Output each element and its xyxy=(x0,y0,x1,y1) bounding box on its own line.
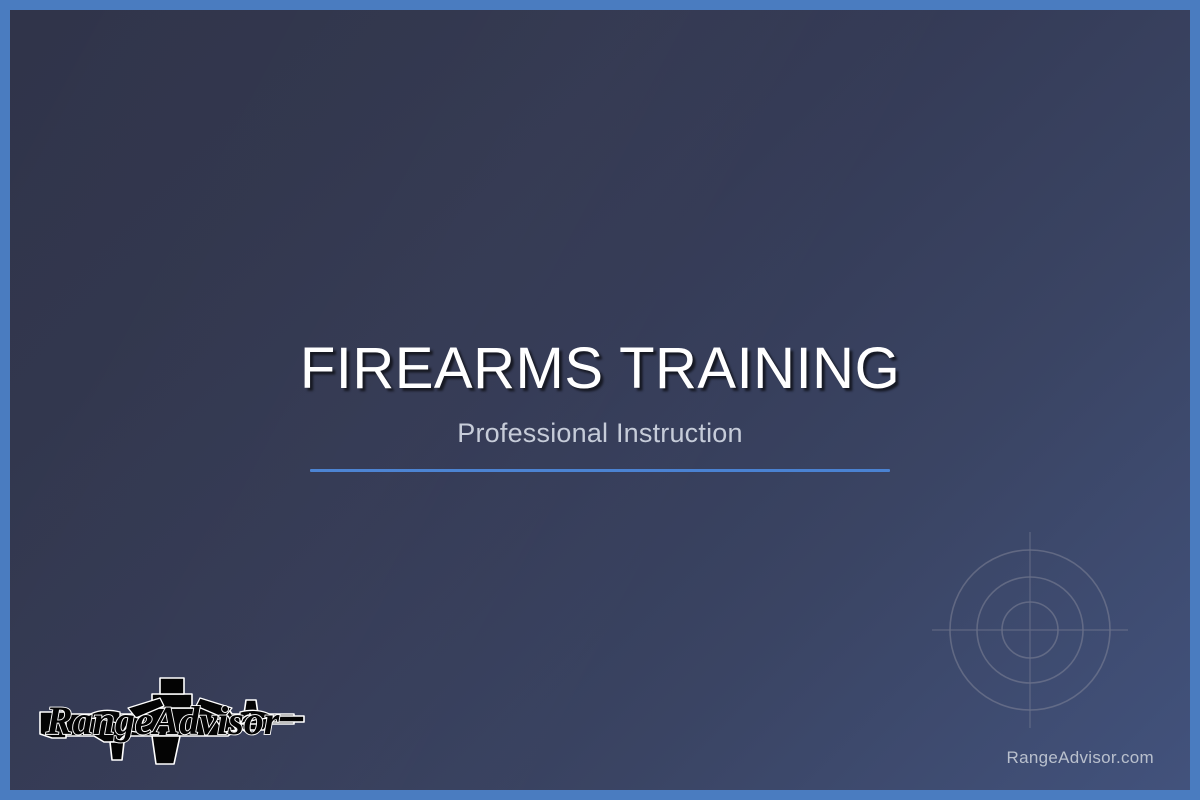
target-reticle-icon xyxy=(920,520,1140,740)
page-title: FIREARMS TRAINING xyxy=(10,340,1190,398)
scope-reticle-icon xyxy=(239,713,261,735)
accent-divider xyxy=(310,469,890,472)
footer-website-url: RangeAdvisor.com xyxy=(1007,748,1154,768)
title-block: FIREARMS TRAINING Professional Instructi… xyxy=(10,340,1190,472)
presentation-slide: FIREARMS TRAINING Professional Instructi… xyxy=(0,0,1200,800)
slide-canvas: FIREARMS TRAINING Professional Instructi… xyxy=(10,10,1190,790)
slide-subtitle: Professional Instruction xyxy=(10,420,1190,447)
logo-wordmark: RangeAdvisor xyxy=(45,698,280,743)
rifle-silhouette-icon: RangeAdvisor xyxy=(32,668,317,768)
